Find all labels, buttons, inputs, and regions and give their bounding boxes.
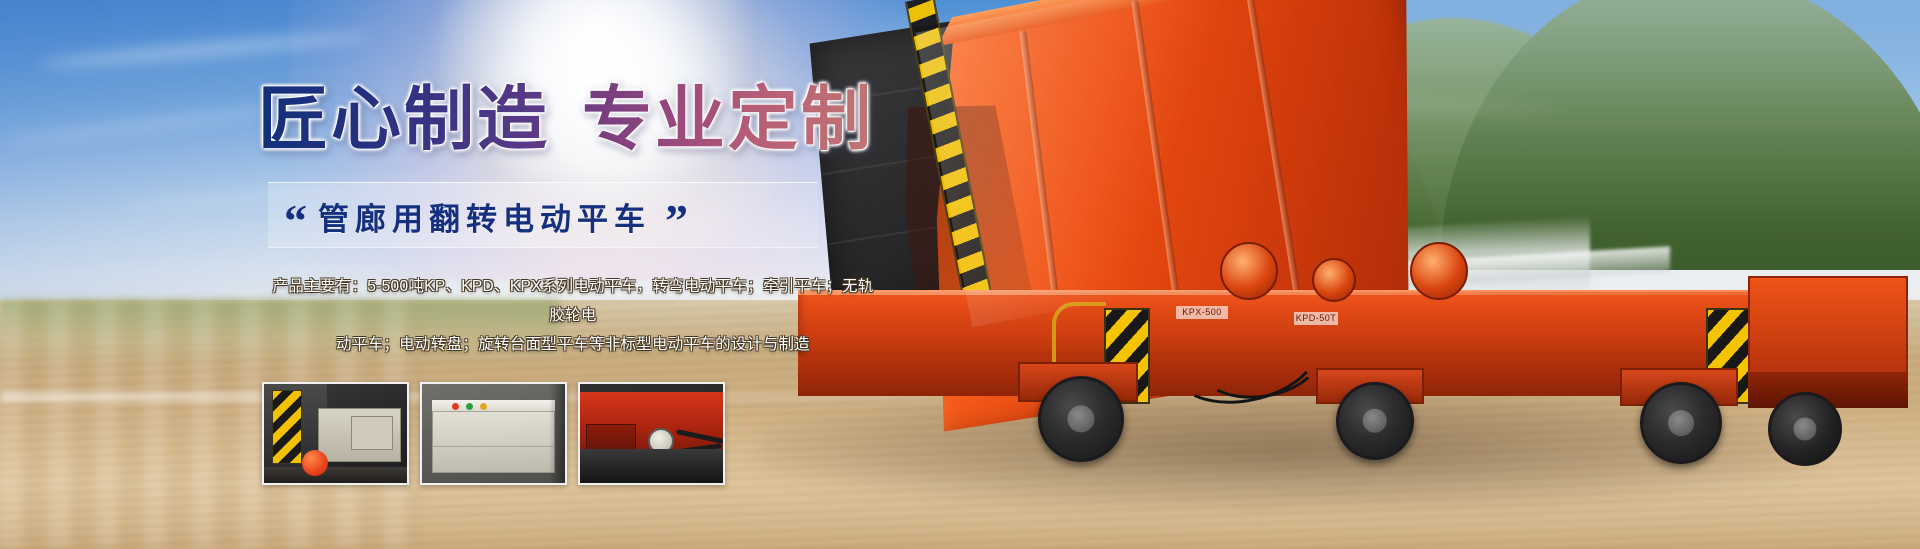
pivot-roller [1312, 258, 1356, 302]
product-plate-2: KPD-50T [1294, 312, 1338, 325]
product-description: 产品主要有：5-500吨KP、KPD、KPX系列电动平车，转弯电动平车；牵引平车… [268, 272, 878, 359]
cart-wheel [1640, 382, 1722, 464]
thumbnail-control-cabinet[interactable] [420, 382, 567, 485]
subtitle-row: “ 管廊用翻转电动平车 ” [284, 186, 844, 246]
cart-wheel [1336, 382, 1414, 460]
page-title: 匠心制造专业定制 [258, 78, 898, 160]
thumbnail-strip [262, 382, 725, 485]
headline-part-2: 专业定制 [582, 80, 874, 158]
indicator-led-red-icon [452, 403, 459, 410]
headline-wrapper: 匠心制造专业定制 [258, 78, 898, 160]
cart-wheel [1768, 392, 1842, 466]
product-banner: KPX-500 KPD-50T 匠心制造专业定制 “ 管廊用翻转电动平车 ” 产… [0, 0, 1920, 549]
deck-highlight [798, 290, 1778, 295]
quote-open-icon: “ [284, 198, 304, 244]
thumbnail-workshop-cart[interactable] [262, 382, 409, 485]
cart-wheel [1038, 376, 1124, 462]
indicator-led-green-icon [466, 403, 473, 410]
hazard-stripe-icon [272, 390, 302, 464]
thumbnail-hydraulic-detail[interactable] [578, 382, 725, 485]
product-plate-1: KPX-500 [1176, 306, 1228, 319]
orange-bumper-icon [302, 450, 328, 476]
subtitle-text: 管廊用翻转电动平车 [318, 194, 651, 239]
indicator-led-amber-icon [480, 403, 487, 410]
quote-close-icon: ” [665, 198, 685, 244]
description-line-1: 产品主要有：5-500吨KP、KPD、KPX系列电动平车，转弯电动平车；牵引平车… [268, 272, 878, 330]
rear-equipment-box [1748, 276, 1908, 374]
pivot-roller [1220, 242, 1278, 300]
description-line-2: 动平车；电动转盘；旋转台面型平车等非标型电动平车的设计与制造 [268, 330, 878, 359]
headline-part-1: 匠心制造 [258, 80, 550, 158]
pivot-roller [1410, 242, 1468, 300]
